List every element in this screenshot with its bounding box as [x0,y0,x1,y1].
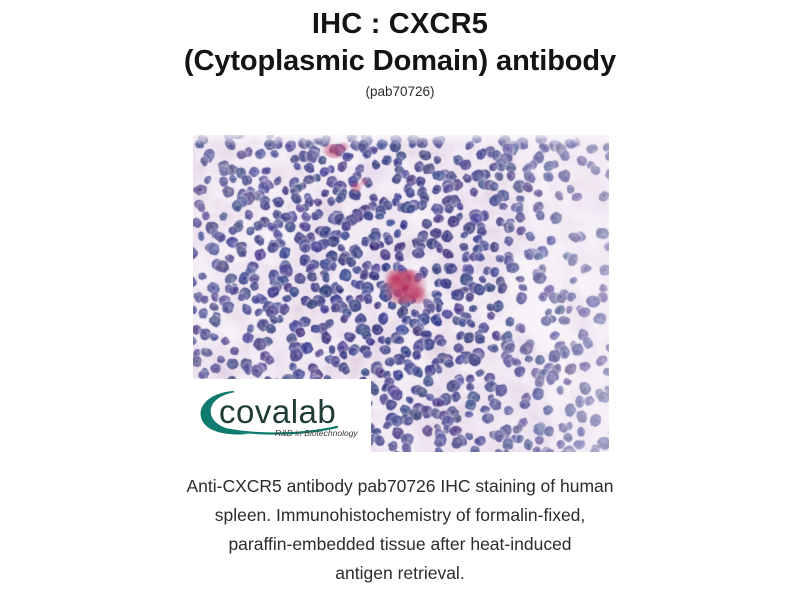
covalab-wordmark: covalab [219,393,336,430]
covalab-tagline: R&D in Biotechnology [275,428,358,438]
figure-page: IHC : CXCR5 (Cytoplasmic Domain) antibod… [0,0,800,600]
page-title: IHC : CXCR5 (Cytoplasmic Domain) antibod… [0,6,800,101]
caption-line: paraffin-embedded tissue after heat-indu… [0,530,800,559]
caption-line: antigen retrieval. [0,559,800,588]
title-line-primary: IHC : CXCR5 [0,6,800,43]
caption-line: spleen. Immunohistochemistry of formalin… [0,501,800,530]
covalab-logo: covalab R&D in Biotechnology [193,379,371,452]
title-line-secondary: (Cytoplasmic Domain) antibody [0,43,800,80]
caption-line: Anti-CXCR5 antibody pab70726 IHC stainin… [0,472,800,501]
covalab-logo-icon: covalab R&D in Biotechnology [197,387,367,439]
covalab-watermark: covalab R&D in Biotechnology [193,379,371,452]
figure-caption: Anti-CXCR5 antibody pab70726 IHC stainin… [0,472,800,588]
ihc-micrograph: covalab R&D in Biotechnology [193,135,609,452]
catalog-number: (pab70726) [0,83,800,101]
